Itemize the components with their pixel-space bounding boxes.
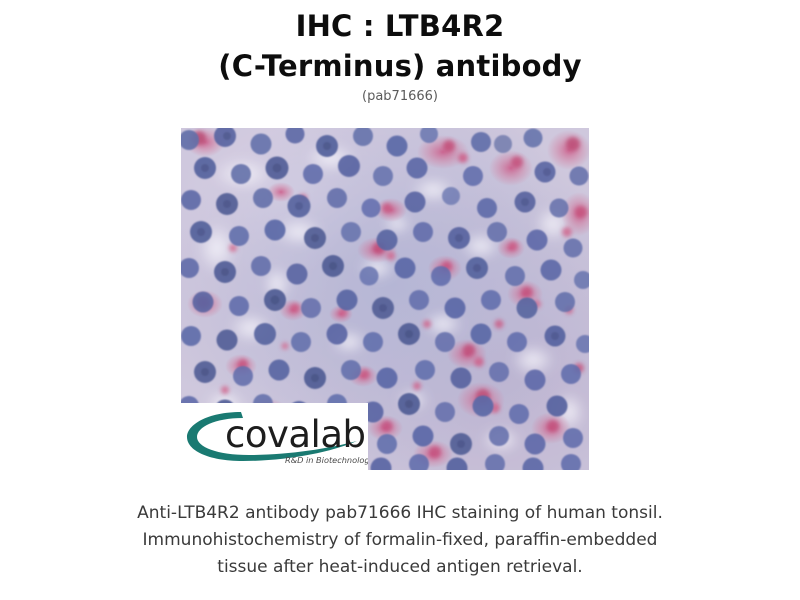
catalog-number: (pab71666)	[0, 88, 800, 105]
page-root: IHC : LTB4R2 (C-Terminus) antibody (pab7…	[0, 0, 800, 600]
title-line-primary: IHC : LTB4R2	[0, 6, 800, 46]
caption-line-1: Anti-LTB4R2 antibody pab71666 IHC staini…	[40, 500, 760, 527]
logo-wordmark: covalab	[225, 413, 366, 456]
caption-line-3: tissue after heat-induced antigen retrie…	[40, 554, 760, 581]
title-line-secondary: (C-Terminus) antibody	[0, 46, 800, 86]
figure-caption: Anti-LTB4R2 antibody pab71666 IHC staini…	[40, 500, 760, 581]
caption-line-2: Immunohistochemistry of formalin-fixed, …	[40, 527, 760, 554]
logo-tagline: R&D in Biotechnology	[285, 455, 368, 465]
page-title: IHC : LTB4R2 (C-Terminus) antibody (pab7…	[0, 6, 800, 105]
covalab-logo: covalab R&D in Biotechnology	[181, 403, 368, 470]
covalab-logo-svg: covalab R&D in Biotechnology	[181, 403, 368, 470]
